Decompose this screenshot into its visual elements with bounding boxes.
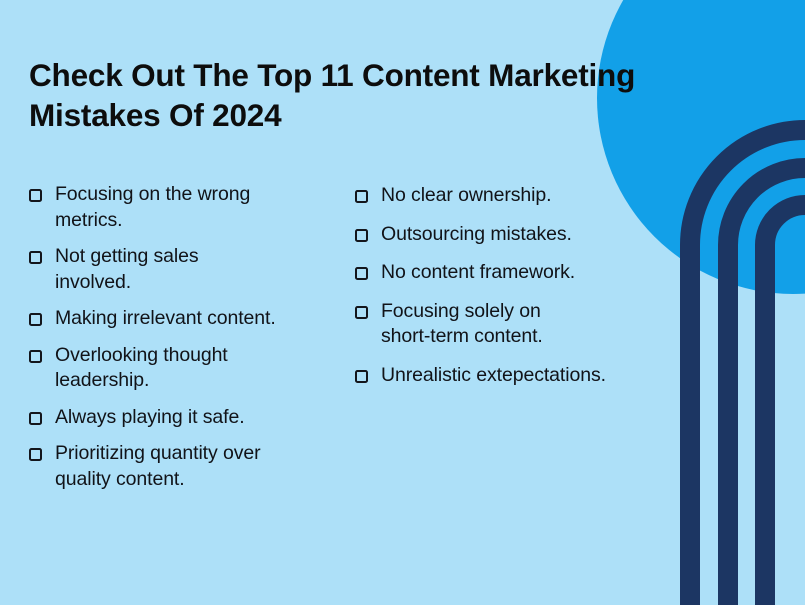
checklist-column-right: No clear ownership. Outsourcing mistakes…	[355, 183, 675, 401]
list-item[interactable]: Focusing on the wrong metrics.	[29, 182, 349, 233]
checkbox-icon[interactable]	[29, 412, 42, 425]
list-item-label: Focusing on the wrong metrics.	[55, 182, 349, 233]
list-item[interactable]: Not getting sales involved.	[29, 244, 349, 295]
list-item-label: Prioritizing quantity over quality conte…	[55, 441, 349, 492]
navy-arc-inner	[765, 205, 805, 605]
list-item-label: Unrealistic extepectations.	[381, 363, 675, 389]
list-item[interactable]: Always playing it safe.	[29, 405, 349, 431]
list-item[interactable]: No clear ownership.	[355, 183, 675, 209]
list-item[interactable]: Focusing solely on short-term content.	[355, 299, 675, 350]
navy-arc-middle	[728, 168, 805, 605]
checkbox-icon[interactable]	[355, 306, 368, 319]
checkbox-icon[interactable]	[29, 251, 42, 264]
list-item[interactable]: No content framework.	[355, 260, 675, 286]
list-item-label: Making irrelevant content.	[55, 306, 349, 332]
list-item[interactable]: Unrealistic extepectations.	[355, 363, 675, 389]
page-title: Check Out The Top 11 Content Marketing M…	[29, 55, 709, 135]
infographic-slide: Check Out The Top 11 Content Marketing M…	[0, 0, 805, 605]
list-item[interactable]: Overlooking thought leadership.	[29, 343, 349, 394]
checkbox-icon[interactable]	[355, 370, 368, 383]
list-item-label: Focusing solely on short-term content.	[381, 299, 675, 350]
list-item-label: No content framework.	[381, 260, 675, 286]
checkbox-icon[interactable]	[29, 313, 42, 326]
checkbox-icon[interactable]	[355, 267, 368, 280]
checkbox-icon[interactable]	[29, 189, 42, 202]
list-item[interactable]: Prioritizing quantity over quality conte…	[29, 441, 349, 492]
list-item[interactable]: Outsourcing mistakes.	[355, 222, 675, 248]
list-item-label: No clear ownership.	[381, 183, 675, 209]
checkbox-icon[interactable]	[355, 190, 368, 203]
checkbox-icon[interactable]	[355, 229, 368, 242]
list-item-label: Outsourcing mistakes.	[381, 222, 675, 248]
list-item-label: Always playing it safe.	[55, 405, 349, 431]
checkbox-icon[interactable]	[29, 448, 42, 461]
checkbox-icon[interactable]	[29, 350, 42, 363]
list-item[interactable]: Making irrelevant content.	[29, 306, 349, 332]
checklist-column-left: Focusing on the wrong metrics. Not getti…	[29, 182, 349, 503]
list-item-label: Overlooking thought leadership.	[55, 343, 349, 394]
navy-arc-outer	[690, 130, 805, 605]
list-item-label: Not getting sales involved.	[55, 244, 349, 295]
